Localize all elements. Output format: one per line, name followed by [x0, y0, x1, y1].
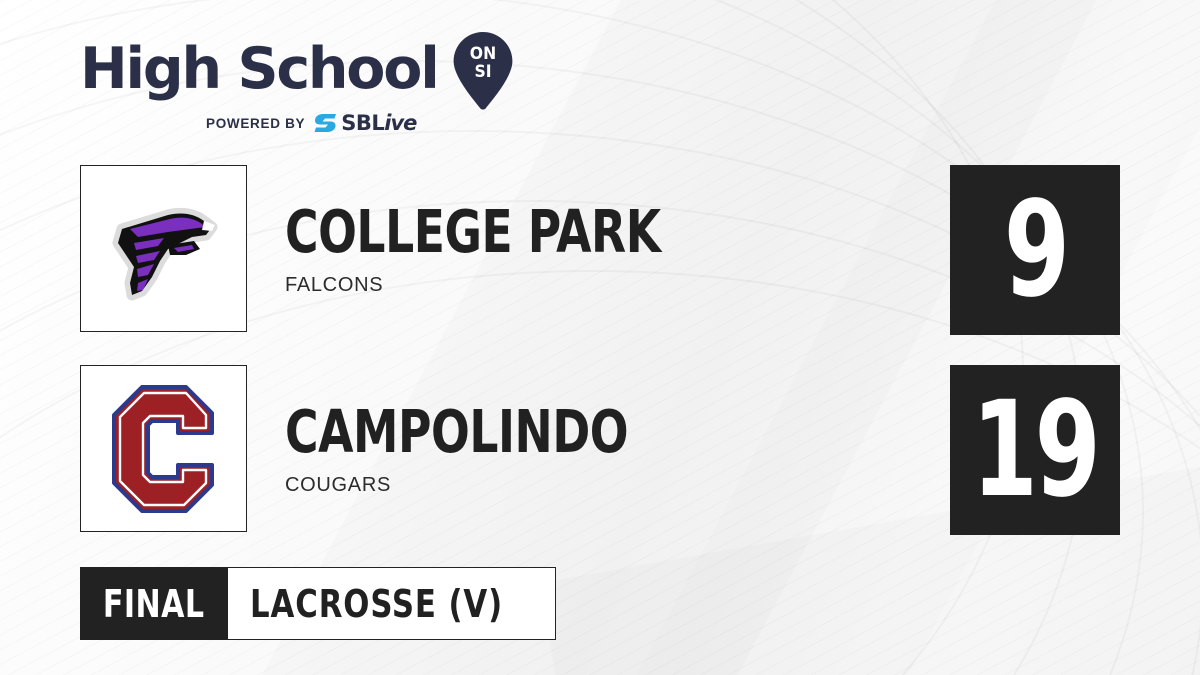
brand-wordmark-text: High School [80, 40, 438, 98]
team-score-value: 19 [972, 384, 1098, 516]
brand-logo: High School ON SI POWERED BY SBLive [80, 36, 550, 136]
team-text-block: CAMPOLINDO COUGARS [285, 365, 684, 532]
on-si-pin-icon: ON SI [452, 32, 514, 110]
game-status-bar: FINAL LACROSSE (V) [80, 567, 556, 640]
svg-text:ON: ON [469, 43, 495, 63]
sblive-s-mark-icon [314, 112, 338, 134]
team-score-value: 9 [1004, 184, 1067, 316]
team-mascot: COUGARS [285, 474, 684, 496]
scoreboard-graphic: High School ON SI POWERED BY SBLive [0, 0, 1200, 675]
svg-text:SI: SI [474, 61, 491, 81]
brand-wordmark: High School ON SI [80, 36, 550, 102]
block-c-logo-icon [112, 385, 216, 513]
team-score-box: 9 [950, 165, 1120, 335]
team-logo-tile [80, 365, 247, 532]
team-row-home: COLLEGE PARK FALCONS 9 [80, 165, 1120, 335]
powered-by-label: POWERED BY [206, 116, 305, 131]
team-name: CAMPOLINDO [285, 402, 628, 462]
status-badge: FINAL [80, 567, 228, 640]
sblive-wordmark: SBLive [341, 111, 416, 135]
sport-label: LACROSSE (V) [250, 585, 503, 623]
team-text-block: COLLEGE PARK FALCONS [285, 165, 722, 332]
powered-by-row: POWERED BY SBLive [80, 111, 550, 135]
team-score-box: 19 [950, 365, 1120, 535]
falcon-logo-icon [104, 189, 224, 309]
sblive-logo: SBLive [314, 111, 416, 135]
team-mascot: FALCONS [285, 274, 722, 296]
status-badge-label: FINAL [103, 585, 205, 623]
team-name: COLLEGE PARK [285, 202, 661, 262]
team-logo-tile [80, 165, 247, 332]
team-row-away: CAMPOLINDO COUGARS 19 [80, 365, 1120, 535]
sport-label-container: LACROSSE (V) [228, 567, 556, 640]
